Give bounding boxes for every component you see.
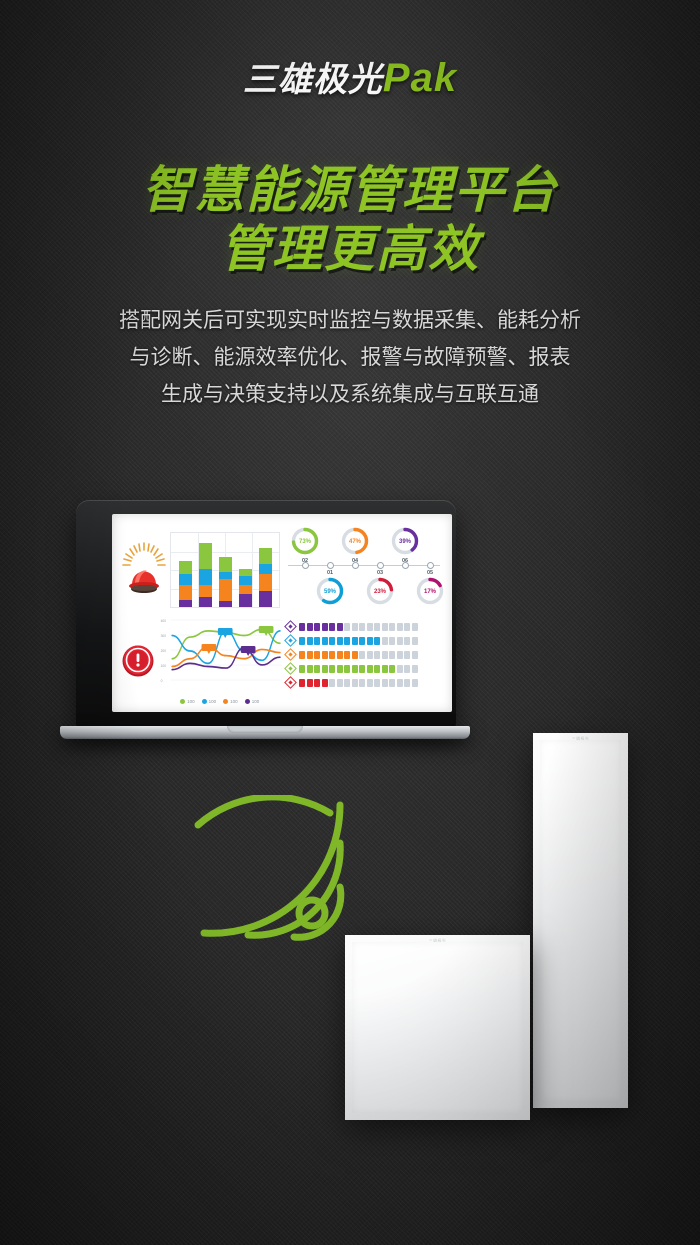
vignette-overlay <box>0 0 700 1245</box>
